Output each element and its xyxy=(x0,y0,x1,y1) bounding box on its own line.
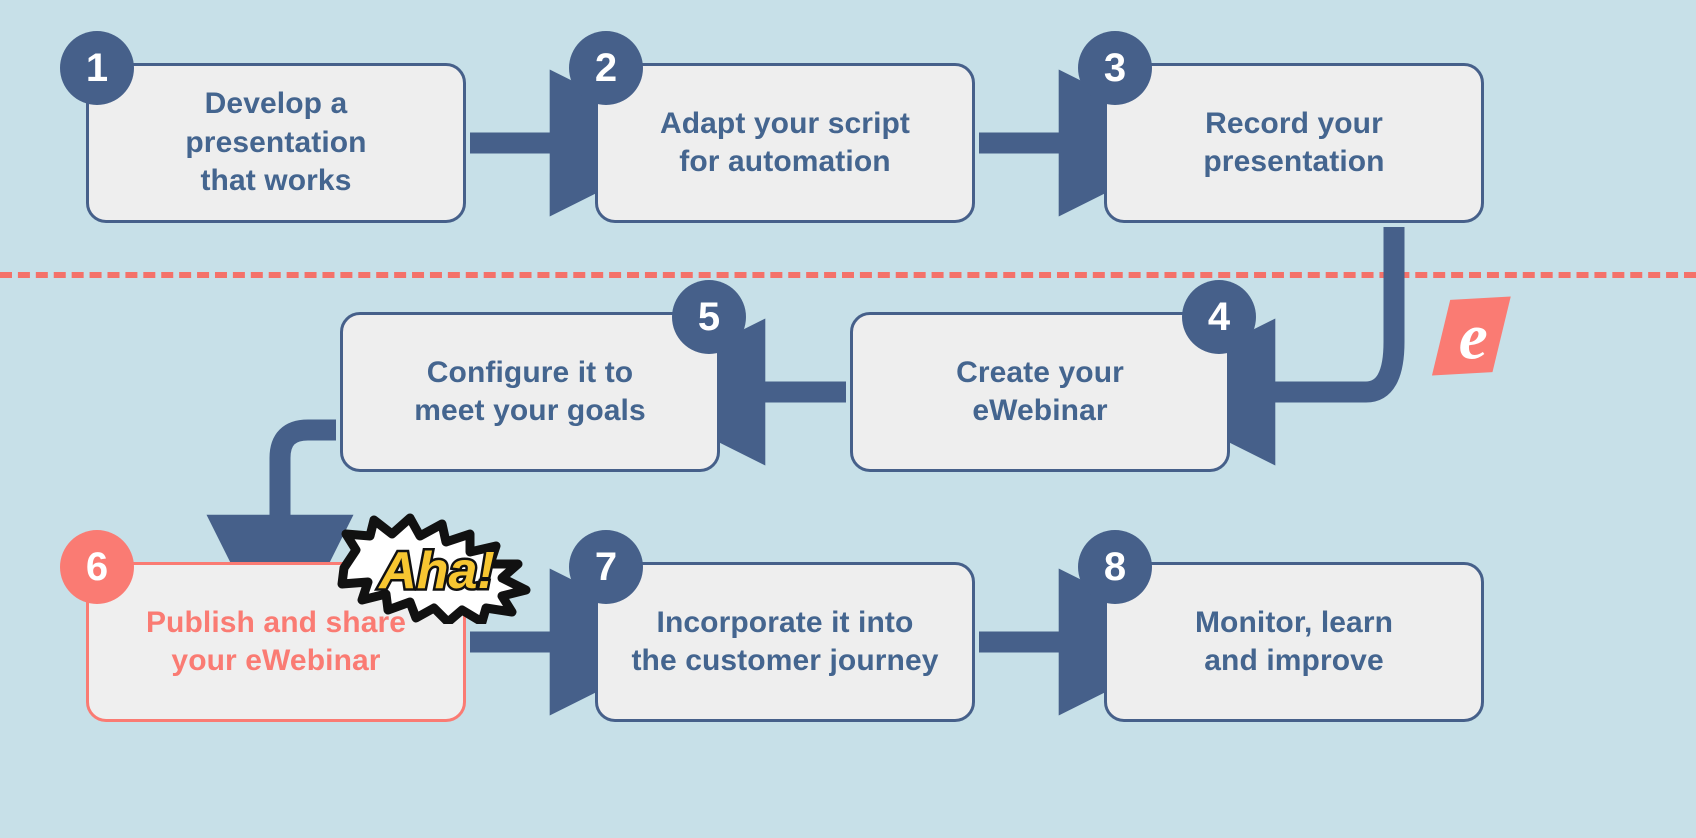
step-box-4[interactable]: Create your eWebinar xyxy=(850,312,1230,472)
step-badge-2: 2 xyxy=(569,31,643,105)
step-box-7[interactable]: Incorporate it into the customer journey xyxy=(595,562,975,722)
step-badge-4: 4 xyxy=(1182,280,1256,354)
arrow-3-to-4 xyxy=(1248,227,1394,392)
step-label-4: Create your eWebinar xyxy=(956,354,1124,431)
arrow-5-to-6 xyxy=(280,430,336,542)
flowchart-canvas: Develop a presentation that works1Adapt … xyxy=(0,0,1696,838)
step-badge-3: 3 xyxy=(1078,31,1152,105)
step-badge-7: 7 xyxy=(569,530,643,604)
step-label-3: Record your presentation xyxy=(1203,105,1384,182)
step-box-2[interactable]: Adapt your script for automation xyxy=(595,63,975,223)
step-label-8: Monitor, learn and improve xyxy=(1195,604,1393,681)
step-box-8[interactable]: Monitor, learn and improve xyxy=(1104,562,1484,722)
step-badge-6: 6 xyxy=(60,530,134,604)
step-label-5: Configure it to meet your goals xyxy=(414,354,646,431)
ewebinar-logo: e xyxy=(1432,293,1518,379)
step-label-2: Adapt your script for automation xyxy=(660,105,910,182)
aha-burst: Aha! xyxy=(336,512,538,624)
step-label-1: Develop a presentation that works xyxy=(185,85,366,200)
step-label-7: Incorporate it into the customer journey xyxy=(631,604,938,681)
step-badge-8: 8 xyxy=(1078,530,1152,604)
step-box-3[interactable]: Record your presentation xyxy=(1104,63,1484,223)
step-box-5[interactable]: Configure it to meet your goals xyxy=(340,312,720,472)
step-badge-1: 1 xyxy=(60,31,134,105)
burst-label: Aha! xyxy=(377,542,495,600)
step-badge-5: 5 xyxy=(672,280,746,354)
step-box-1[interactable]: Develop a presentation that works xyxy=(86,63,466,223)
logo-letter: e xyxy=(1459,301,1488,373)
